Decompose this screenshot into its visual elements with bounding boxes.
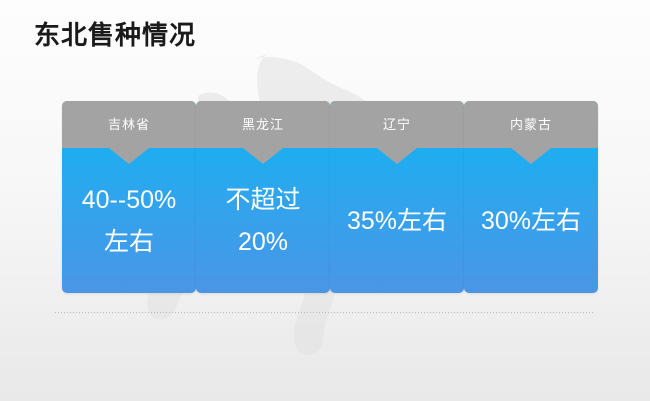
region-card-body: 35%左右	[330, 148, 464, 293]
region-card-body: 30%左右	[464, 148, 598, 293]
region-card-header: 吉林省	[62, 101, 196, 148]
page-title: 东北售种情况	[34, 18, 196, 52]
region-value-line-1: 40--50%	[82, 183, 177, 217]
region-card-heilongjiang[interactable]: 黑龙江 不超过 20%	[196, 101, 330, 293]
region-name-label: 内蒙古	[510, 117, 552, 133]
region-card-body: 40--50% 左右	[62, 148, 196, 293]
region-value-line-1: 不超过	[225, 183, 300, 217]
slide-canvas: 东北售种情况 吉林省 40--50% 左右 黑龙江 不超过 20% 辽	[0, 0, 650, 401]
dotted-divider	[55, 312, 595, 313]
region-card-body: 不超过 20%	[196, 148, 330, 293]
region-card-list: 吉林省 40--50% 左右 黑龙江 不超过 20% 辽宁 3	[62, 101, 598, 293]
region-value-line-1: 35%左右	[347, 204, 447, 238]
region-card-jilin[interactable]: 吉林省 40--50% 左右	[62, 101, 196, 293]
region-name-label: 辽宁	[383, 117, 411, 133]
region-value-line-2: 左右	[104, 225, 154, 259]
region-card-header: 辽宁	[330, 101, 464, 148]
region-value-line-1: 30%左右	[481, 204, 581, 238]
triangle-notch-icon	[377, 148, 417, 164]
triangle-notch-icon	[109, 148, 149, 164]
region-card-header: 黑龙江	[196, 101, 330, 148]
region-card-header: 内蒙古	[464, 101, 598, 148]
region-name-label: 吉林省	[108, 117, 150, 133]
region-card-inner-mongolia[interactable]: 内蒙古 30%左右	[464, 101, 598, 293]
triangle-notch-icon	[511, 148, 551, 164]
region-name-label: 黑龙江	[242, 117, 284, 133]
triangle-notch-icon	[243, 148, 283, 164]
region-value-line-2: 20%	[238, 225, 288, 259]
region-card-liaoning[interactable]: 辽宁 35%左右	[330, 101, 464, 293]
